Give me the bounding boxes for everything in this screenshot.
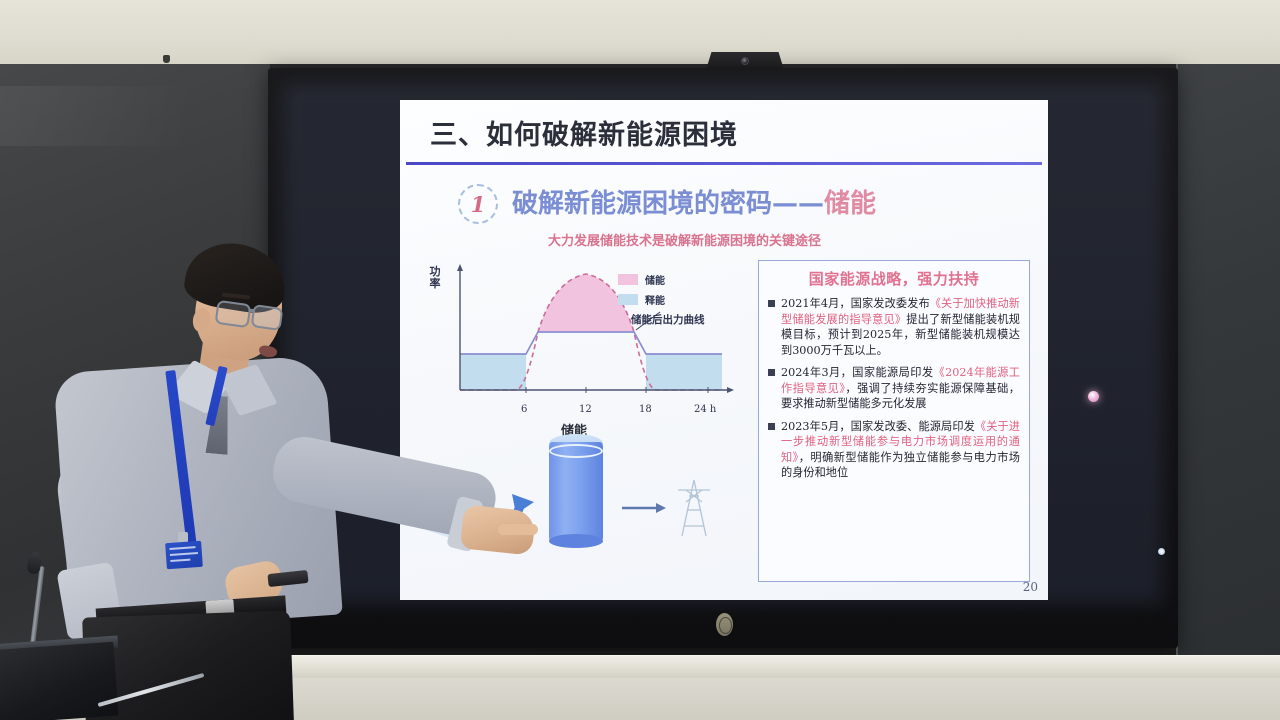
step-badge-number: 1 — [460, 186, 496, 222]
glasses-lens-left — [214, 300, 251, 328]
step-badge-1: 1 — [458, 184, 498, 224]
release-area-right — [646, 354, 722, 390]
legend-item-storage: 储能 — [618, 272, 665, 287]
policy-item-text: 2023年5月，国家发改委、能源局印发《关于进一步推动新型储能参与电力市场调度运… — [781, 419, 1020, 481]
slide-page-number: 20 — [1023, 580, 1038, 594]
section-title-text: 三、如何破解新能源困境 — [430, 116, 1022, 156]
textbox-title: 国家能源战略，强力扶持 — [768, 268, 1020, 289]
presenter-mouth — [258, 344, 278, 359]
slide-section-title: 三、如何破解新能源困境 — [430, 116, 1022, 160]
slide-subheadline: 大力发展储能技术是破解新能源困境的关键途径 — [548, 230, 821, 249]
legend-item-release: 释能 — [618, 292, 665, 307]
manufacturer-logo — [716, 613, 733, 636]
x-tick-12: 12 — [579, 404, 592, 415]
policy-item-text: 2024年3月，国家能源局印发《2024年能源工作指导意见》，强调了持续夯实能源… — [781, 365, 1020, 412]
arrow-right-icon — [622, 503, 666, 513]
headline-primary: 破解新能源困境的密码—— — [512, 189, 824, 219]
policy-item: 2024年3月，国家能源局印发《2024年能源工作指导意见》，强调了持续夯实能源… — [768, 365, 1020, 412]
slide-headline: 破解新能源困境的密码——储能 — [512, 186, 876, 222]
status-led-pink — [1088, 391, 1099, 402]
tank-base — [549, 534, 603, 548]
wall-screw — [163, 55, 170, 63]
upper-wall — [0, 0, 1280, 68]
chart-legend: 储能 释能 — [618, 272, 665, 312]
glasses-lens-right — [251, 304, 284, 331]
legend-label-storage: 储能 — [645, 272, 665, 287]
legend-swatch-storage — [618, 274, 638, 285]
x-tick-24: 24 h — [694, 404, 716, 415]
headline-accent: 储能 — [824, 189, 876, 219]
policy-textbox: 国家能源战略，强力扶持 2021年4月，国家发改委发布《关于加快推动新型储能发展… — [758, 260, 1030, 582]
classroom-scene: 三、如何破解新能源困境 1 破解新能源困境的密码——储能 大力发展储能技术是破解… — [0, 0, 1280, 720]
policy-item: 2021年4月，国家发改委发布《关于加快推动新型储能发展的指导意见》提出了新型储… — [768, 296, 1020, 358]
chart-annotation: 储能后出力曲线 — [631, 312, 705, 327]
id-badge — [165, 541, 203, 569]
tank-rim — [549, 444, 603, 458]
presenter-finger — [498, 524, 538, 535]
title-underline — [406, 162, 1042, 165]
blackboard-right — [1178, 64, 1280, 664]
x-tick-18: 18 — [639, 404, 652, 415]
bullet-square-icon — [768, 300, 775, 307]
bullet-square-icon — [768, 369, 775, 376]
status-led-small — [1158, 548, 1165, 555]
podium — [0, 642, 118, 720]
transmission-tower-icon — [678, 480, 710, 536]
bullet-square-icon — [768, 423, 775, 430]
legend-label-release: 释能 — [645, 292, 665, 307]
policy-item: 2023年5月，国家发改委、能源局印发《关于进一步推动新型储能参与电力市场调度运… — [768, 419, 1020, 481]
policy-item-text: 2021年4月，国家发改委发布《关于加快推动新型储能发展的指导意见》提出了新型储… — [781, 296, 1020, 358]
legend-swatch-release — [618, 294, 638, 305]
camera-lens-icon — [741, 57, 749, 65]
